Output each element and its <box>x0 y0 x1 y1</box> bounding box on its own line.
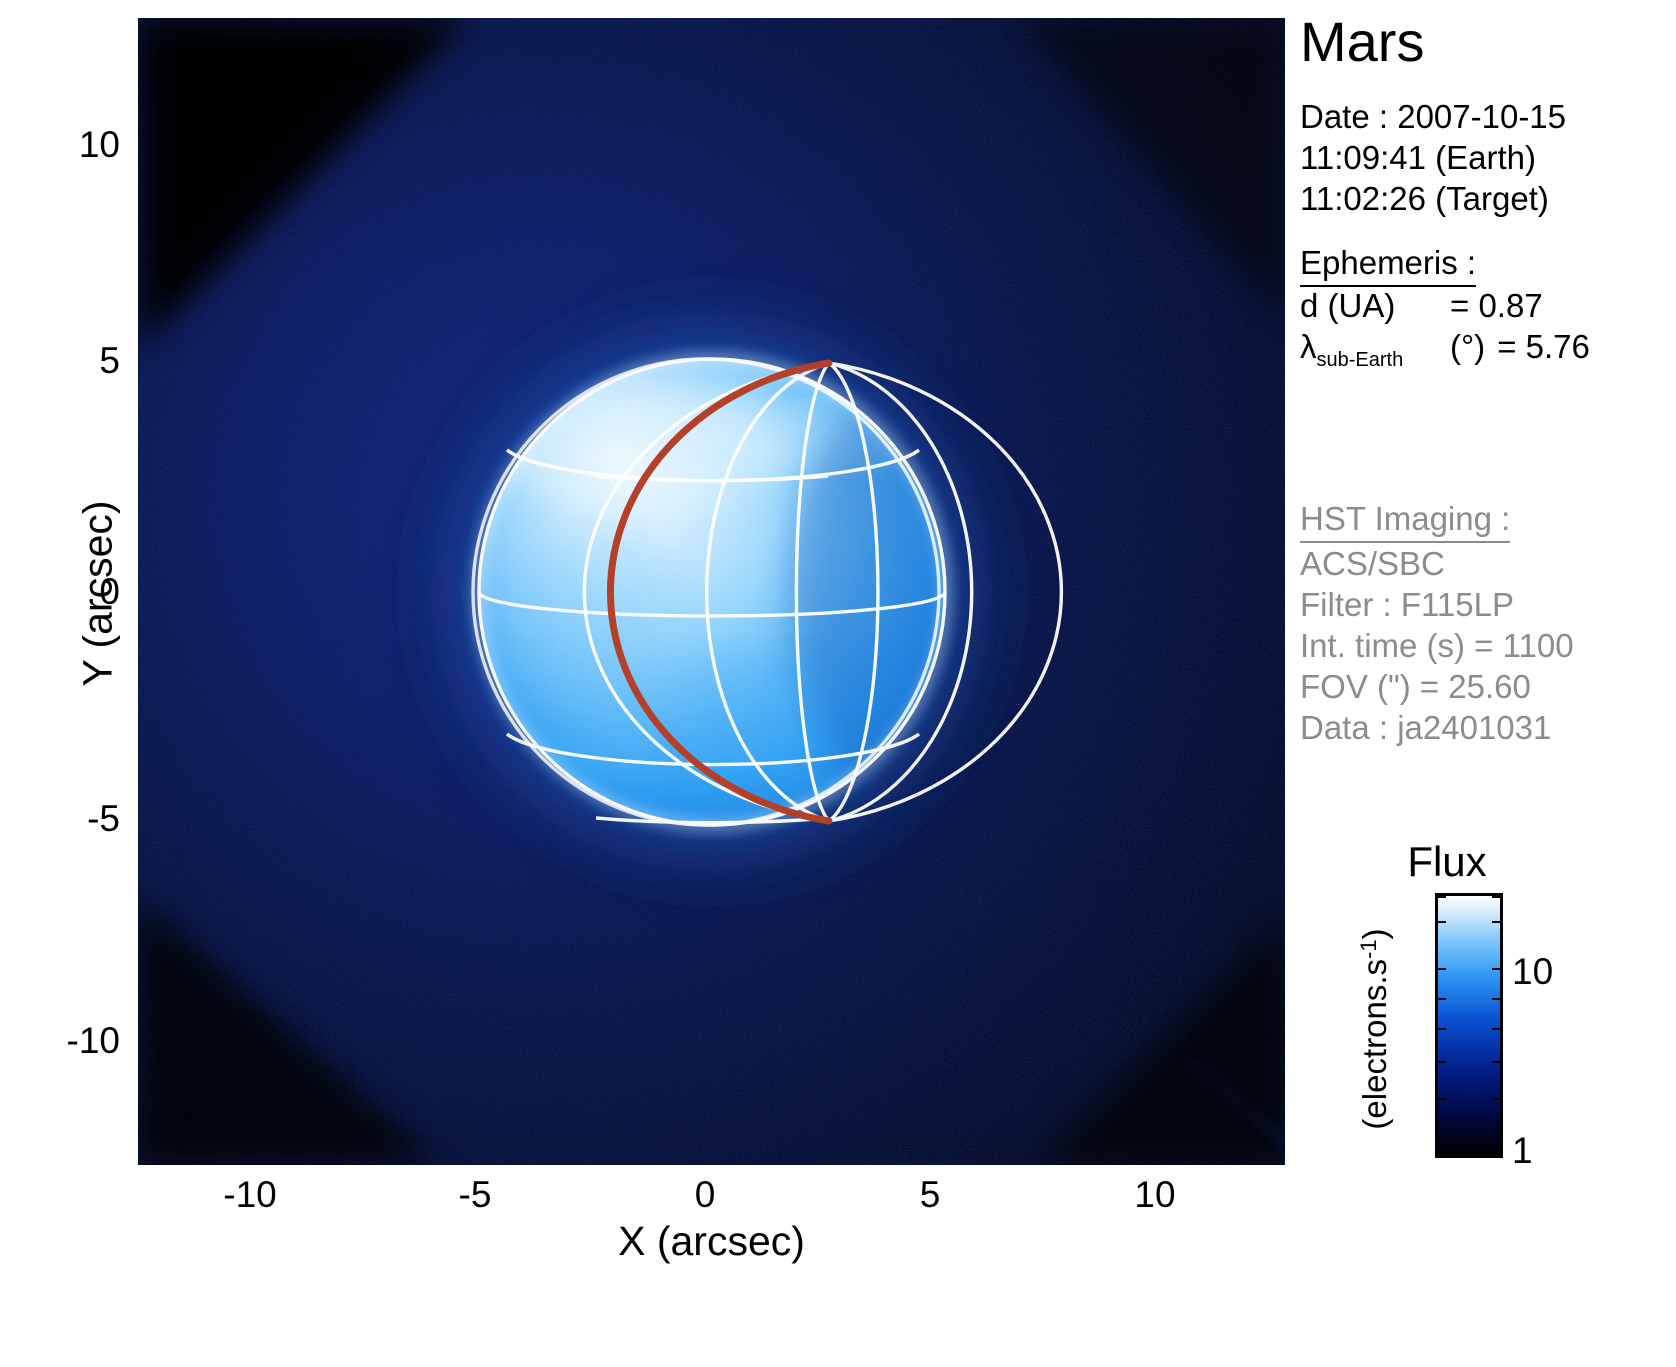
colorbar-tick-top-r <box>1492 896 1503 898</box>
hst-imaging-block: HST Imaging : ACS/SBC Filter : F115LP In… <box>1300 498 1676 748</box>
ephemeris-rows: d (UA) = 0.87 λsub-Earth (°) = 5.76 <box>1300 285 1676 373</box>
date-line: Date : 2007-10-15 <box>1300 96 1676 137</box>
ephemeris-value-distance: = 0.87 <box>1450 285 1543 326</box>
colorbar-minor-tick <box>1492 1028 1503 1030</box>
colorbar-tick-1-r <box>1492 1153 1503 1155</box>
lambda-symbol: λ <box>1300 328 1317 365</box>
hst-heading-text: HST Imaging : <box>1300 498 1510 543</box>
x-tick-10: 10 <box>1095 1176 1215 1213</box>
ephemeris-key-sub-earth: λsub-Earth <box>1300 326 1450 373</box>
ephemeris-key-distance: d (UA) <box>1300 285 1450 326</box>
hst-int-time: Int. time (s) = 1100 <box>1300 625 1676 666</box>
x-tick-0: 0 <box>645 1176 765 1213</box>
y-tick-10: 10 <box>0 126 120 163</box>
info-sidebar: Mars Date : 2007-10-15 11:09:41 (Earth) … <box>1300 0 1676 1367</box>
colorbar-minor-tick <box>1492 1061 1503 1063</box>
colorbar-minor-tick <box>1492 921 1503 923</box>
image-plot-panel <box>138 18 1285 1165</box>
colorbar-unit-text: (electrons.s <box>1356 959 1393 1130</box>
x-axis-label: X (arcsec) <box>138 1218 1285 1265</box>
colorbar-label-10: 10 <box>1512 953 1553 990</box>
time-earth-line: 11:09:41 (Earth) <box>1300 137 1676 178</box>
ephemeris-value-sub-earth: = 5.76 <box>1497 326 1590 373</box>
colorbar-unit-label: (electrons.s-1) <box>1356 879 1394 1179</box>
x-tick-neg10: -10 <box>190 1176 310 1213</box>
colorbar-tick-top-l <box>1435 896 1446 898</box>
x-tick-neg5: -5 <box>415 1176 535 1213</box>
y-tick-neg5: -5 <box>0 800 120 837</box>
ephemeris-heading-text: Ephemeris : <box>1300 242 1476 287</box>
ephemeris-unit-degrees: (°) <box>1450 326 1485 373</box>
mars-image-canvas <box>138 18 1285 1165</box>
colorbar-tick-10-l <box>1435 968 1446 970</box>
hst-instrument: ACS/SBC <box>1300 543 1676 584</box>
ephemeris-row-distance: d (UA) = 0.87 <box>1300 285 1676 326</box>
y-tick-neg10: -10 <box>0 1022 120 1059</box>
y-tick-5: 5 <box>0 342 120 379</box>
colorbar-tick-10-r <box>1492 968 1503 970</box>
colorbar-minor-tick <box>1435 1061 1446 1063</box>
hst-data-id: Data : ja2401031 <box>1300 707 1676 748</box>
date-block: Date : 2007-10-15 11:09:41 (Earth) 11:02… <box>1300 96 1676 219</box>
hst-heading: HST Imaging : <box>1300 498 1676 543</box>
hst-fov: FOV (") = 25.60 <box>1300 666 1676 707</box>
time-target-line: 11:02:26 (Target) <box>1300 178 1676 219</box>
ephemeris-row-sub-earth-longitude: λsub-Earth (°) = 5.76 <box>1300 326 1676 373</box>
colorbar-gradient <box>1435 893 1503 1158</box>
colorbar-minor-tick <box>1435 998 1446 1000</box>
colorbar <box>1435 893 1503 1158</box>
colorbar-minor-tick <box>1492 1098 1503 1100</box>
lambda-subscript: sub-Earth <box>1317 349 1404 371</box>
ephemeris-heading: Ephemeris : <box>1300 242 1676 287</box>
y-axis-label: Y (arcsec) <box>75 444 122 744</box>
colorbar-unit-close: ) <box>1356 928 1393 939</box>
colorbar-label-1: 1 <box>1512 1132 1533 1169</box>
colorbar-minor-tick <box>1435 1098 1446 1100</box>
colorbar-unit-exponent: -1 <box>1356 939 1381 959</box>
x-tick-5: 5 <box>870 1176 990 1213</box>
colorbar-minor-tick <box>1435 921 1446 923</box>
colorbar-minor-tick <box>1435 1028 1446 1030</box>
page-title: Mars <box>1300 14 1424 70</box>
colorbar-minor-tick <box>1492 998 1503 1000</box>
hst-filter: Filter : F115LP <box>1300 584 1676 625</box>
colorbar-tick-1-l <box>1435 1153 1446 1155</box>
